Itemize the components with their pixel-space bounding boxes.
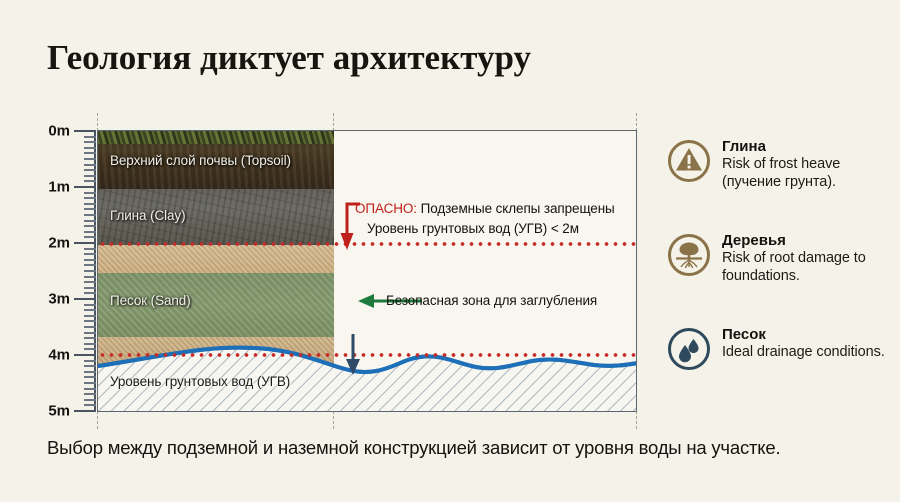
- danger-arrow-icon: [338, 200, 364, 252]
- ruler-label-1m: 1m: [48, 179, 70, 196]
- ruler-label-4m: 4m: [48, 347, 70, 364]
- ruler-tick-minor: [84, 236, 96, 238]
- ruler-tick-minor: [84, 320, 96, 322]
- ruler-tick-minor: [84, 287, 96, 289]
- ruler-tick-minor: [84, 365, 96, 367]
- legend-desc-clay: Risk of frost heave (пучение грунта).: [722, 156, 897, 191]
- ruler-tick-minor: [84, 292, 96, 294]
- water-depth-marker: [98, 353, 637, 357]
- layer-label-sand: Песок (Sand): [110, 293, 191, 308]
- layer-label-topsoil: Верхний слой почвы (Topsoil): [110, 153, 291, 168]
- ruler-tick-minor: [84, 225, 96, 227]
- ruler-tick-minor: [84, 141, 96, 143]
- legend-title-trees: Деревья: [722, 232, 897, 249]
- legend-item-sand[interactable]: Песок Ideal drainage conditions.: [667, 325, 897, 403]
- ruler-tick-minor: [84, 270, 96, 272]
- ruler-tick-minor: [84, 164, 96, 166]
- ruler-tick-minor: [84, 337, 96, 339]
- layer-label-groundwater: Уровень грунтовых вод (УГВ): [110, 374, 290, 389]
- ruler-tick-minor: [84, 214, 96, 216]
- ruler-tick-minor: [84, 175, 96, 177]
- ruler-tick-minor: [84, 197, 96, 199]
- ruler-tick-minor: [84, 326, 96, 328]
- ruler-tick-minor: [84, 315, 96, 317]
- ruler-tick-minor: [84, 208, 96, 210]
- ruler-tick-minor: [84, 180, 96, 182]
- legend-title-clay: Глина: [722, 138, 897, 155]
- soil-cross-section: Верхний слой почвы (Topsoil) Глина (Clay…: [97, 130, 637, 412]
- soil-layer-sand-lower: [98, 337, 334, 367]
- ruler-tick-major: [74, 242, 96, 244]
- ruler-tick-minor: [84, 220, 96, 222]
- ruler-tick-minor: [84, 136, 96, 138]
- danger-line2: Уровень грунтовых вод (УГВ) < 2м: [355, 219, 645, 239]
- ruler-tick-minor: [84, 192, 96, 194]
- ruler-label-5m: 5m: [48, 403, 70, 420]
- ruler-tick-minor: [84, 388, 96, 390]
- ruler-tick-minor: [84, 404, 96, 406]
- safe-zone-label: Безопасная зона для заглубления: [386, 293, 597, 308]
- ruler-tick-minor: [84, 158, 96, 160]
- tree-roots-icon: [667, 233, 711, 277]
- ruler-tick-minor: [84, 343, 96, 345]
- danger-depth-marker: [98, 242, 637, 246]
- ruler-tick-major: [74, 186, 96, 188]
- footer-caption: Выбор между подземной и наземной констру…: [47, 437, 780, 459]
- ruler-tick-major: [74, 130, 96, 132]
- water-depth-arrow-icon: [342, 334, 364, 376]
- layer-label-clay: Глина (Clay): [110, 208, 185, 223]
- ruler-label-3m: 3m: [48, 291, 70, 308]
- water-drops-icon: [667, 327, 711, 371]
- safe-zone-band: [98, 395, 637, 412]
- danger-keyword: ОПАСНО:: [355, 201, 417, 216]
- ruler-tick-minor: [84, 231, 96, 233]
- ruler-tick-minor: [84, 348, 96, 350]
- ruler-tick-minor: [84, 259, 96, 261]
- ruler-tick-minor: [84, 264, 96, 266]
- legend-title-sand: Песок: [722, 326, 885, 343]
- ruler-tick-minor: [84, 360, 96, 362]
- legend-desc-trees: Risk of root damage to foundations.: [722, 250, 897, 285]
- ruler-tick-minor: [84, 276, 96, 278]
- ruler-tick-minor: [84, 309, 96, 311]
- ruler-tick-minor: [84, 248, 96, 250]
- ruler-tick-minor: [84, 399, 96, 401]
- soil-layer-sand-upper: [98, 245, 334, 273]
- ruler-tick-minor: [84, 382, 96, 384]
- ruler-tick-major: [74, 410, 96, 412]
- ruler-tick-minor: [84, 152, 96, 154]
- legend-sidebar: Глина Risk of frost heave (пучение грунт…: [667, 137, 897, 419]
- soil-photo-strip: [98, 131, 334, 411]
- depth-ruler: 0m1m2m3m4m5m: [38, 130, 96, 412]
- ruler-label-2m: 2m: [48, 235, 70, 252]
- design-half: [334, 131, 636, 411]
- ruler-tick-minor: [84, 393, 96, 395]
- ruler-label-0m: 0m: [48, 123, 70, 140]
- ruler-tick-major: [74, 298, 96, 300]
- ruler-tick-minor: [84, 203, 96, 205]
- warning-triangle-icon: [667, 139, 711, 183]
- ruler-tick-minor: [84, 169, 96, 171]
- ruler-tick-minor: [84, 332, 96, 334]
- ruler-tick-minor: [84, 147, 96, 149]
- legend-desc-sand: Ideal drainage conditions.: [722, 344, 885, 362]
- legend-item-trees[interactable]: Деревья Risk of root damage to foundatio…: [667, 231, 897, 309]
- danger-callout: ОПАСНО: Подземные склепы запрещены Урове…: [355, 199, 645, 238]
- legend-item-clay[interactable]: Глина Risk of frost heave (пучение грунт…: [667, 137, 897, 215]
- danger-line1: Подземные склепы запрещены: [417, 201, 615, 216]
- infographic-page: Геология диктует архитектуру 0m1m2m3m4m5…: [0, 0, 900, 502]
- ruler-tick-minor: [84, 281, 96, 283]
- ruler-tick-minor: [84, 371, 96, 373]
- page-title: Геология диктует архитектуру: [47, 38, 531, 78]
- ruler-tick-minor: [84, 304, 96, 306]
- ruler-tick-minor: [84, 253, 96, 255]
- ruler-tick-major: [74, 354, 96, 356]
- ruler-tick-minor: [84, 376, 96, 378]
